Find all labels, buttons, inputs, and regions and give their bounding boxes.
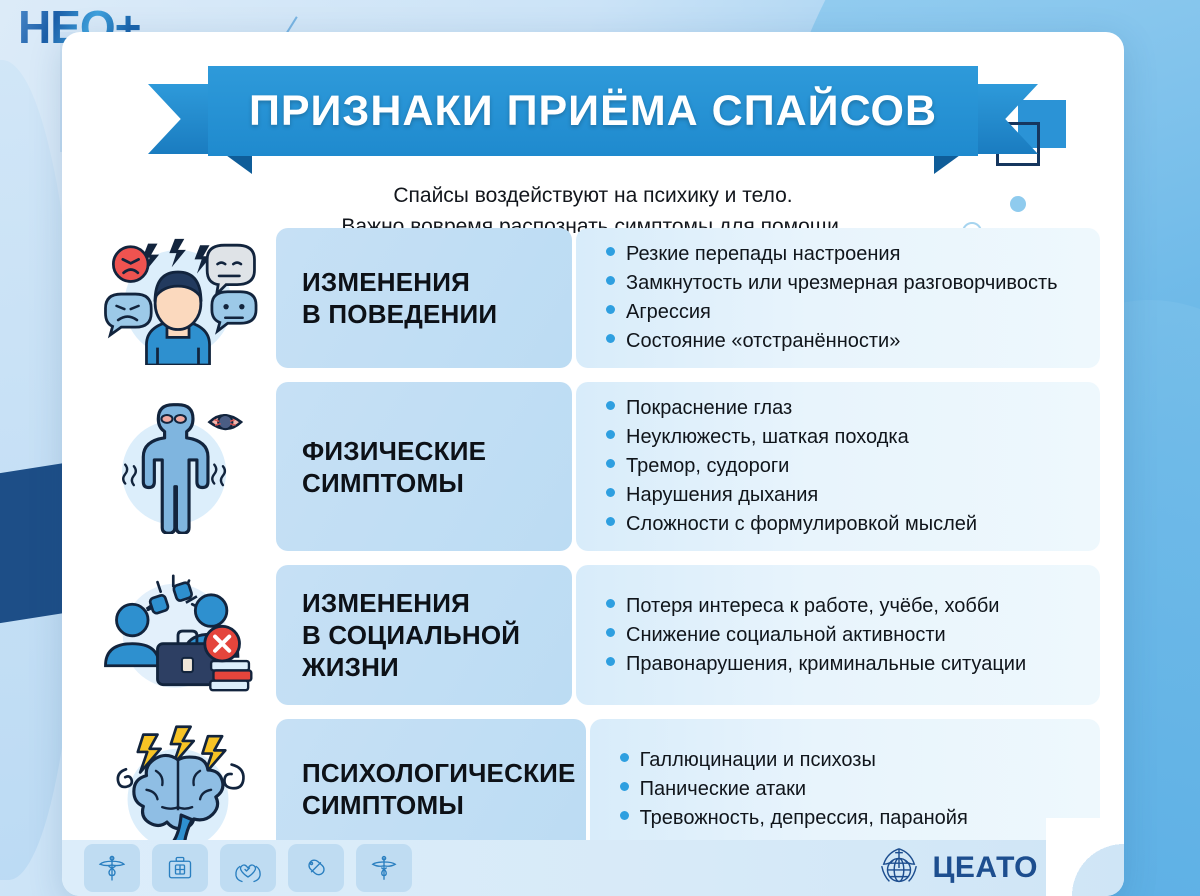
brain-lightning-icon xyxy=(80,719,276,859)
bullet-dot-icon xyxy=(620,753,629,762)
list-item: Неуклюжесть, шаткая походка xyxy=(606,423,1086,452)
bullet-dot-icon xyxy=(606,276,615,285)
list-item-text: Потеря интереса к работе, учёбе, хобби xyxy=(626,592,999,621)
list-item: Тревожность, депрессия, паранойя xyxy=(620,804,1086,833)
list-item-text: Замкнутость или чрезмерная разговорчивос… xyxy=(626,269,1058,298)
list-item: Нарушения дыхания xyxy=(606,481,1086,510)
section-label: ИЗМЕНЕНИЯ В ПОВЕДЕНИИ xyxy=(276,228,572,368)
list-item-text: Резкие перепады настроения xyxy=(626,240,900,269)
bullet-dot-icon xyxy=(606,305,615,314)
section-row: ИЗМЕНЕНИЯ В СОЦИАЛЬНОЙ ЖИЗНИ Потеря инте… xyxy=(80,565,1100,705)
list-item: Сложности с формулировкой мыслей xyxy=(606,510,1086,539)
page-title: ПРИЗНАКИ ПРИЁМА СПАЙСОВ xyxy=(249,87,937,136)
who-emblem-icon xyxy=(876,845,922,891)
section-label-line-1: ПСИХОЛОГИЧЕСКИЕ xyxy=(302,757,576,789)
infographic-poster: НЕО+ ПРИЗНАКИ ПРИЁМА СПАЙСОВ Спайсы возд… xyxy=(0,0,1200,896)
card-corner-notch xyxy=(1046,818,1124,896)
bullet-dot-icon xyxy=(620,782,629,791)
list-item-text: Нарушения дыхания xyxy=(626,481,818,510)
bullet-dot-icon xyxy=(606,247,615,256)
section-label-line-1: ИЗМЕНЕНИЯ xyxy=(302,587,520,619)
list-item-text: Тремор, судороги xyxy=(626,452,789,481)
section-label: ФИЗИЧЕСКИЕ СИМПТОМЫ xyxy=(276,382,572,551)
subtitle-line-1: Спайсы воздействуют на психику и тело. xyxy=(62,180,1124,211)
section-label-line-1: ФИЗИЧЕСКИЕ xyxy=(302,435,486,467)
list-item: Панические атаки xyxy=(620,775,1086,804)
first-aid-kit-icon xyxy=(152,844,208,892)
section-row: ПСИХОЛОГИЧЕСКИЕ СИМПТОМЫ Галлюцинации и … xyxy=(80,719,1100,859)
list-item-text: Покраснение глаз xyxy=(626,394,792,423)
list-item-text: Правонарушения, криминальные ситуации xyxy=(626,650,1026,679)
caduceus-icon xyxy=(84,844,140,892)
list-item: Правонарушения, криминальные ситуации xyxy=(606,650,1086,679)
bullet-dot-icon xyxy=(606,401,615,410)
list-item: Тремор, судороги xyxy=(606,452,1086,481)
section-label-line-2: В ПОВЕДЕНИИ xyxy=(302,298,497,330)
bullet-dot-icon xyxy=(606,517,615,526)
section-label: ИЗМЕНЕНИЯ В СОЦИАЛЬНОЙ ЖИЗНИ xyxy=(276,565,572,705)
list-item: Агрессия xyxy=(606,298,1086,327)
bullet-dot-icon xyxy=(606,628,615,637)
list-item: Замкнутость или чрезмерная разговорчивос… xyxy=(606,269,1086,298)
bullet-dot-icon xyxy=(606,430,615,439)
broken-social-link-icon xyxy=(80,565,276,705)
winged-caduceus-icon xyxy=(356,844,412,892)
footer-icon-strip xyxy=(84,844,412,892)
poster-footer: ЦЕАТО xyxy=(62,840,1124,896)
sections-list: ИЗМЕНЕНИЯ В ПОВЕДЕНИИ Резкие перепады на… xyxy=(62,228,1124,873)
ribbon-band: ПРИЗНАКИ ПРИЁМА СПАЙСОВ xyxy=(208,66,978,156)
section-row: ФИЗИЧЕСКИЕ СИМПТОМЫ Покраснение глаз Неу… xyxy=(80,382,1100,551)
list-item-text: Тревожность, депрессия, паранойя xyxy=(640,804,968,833)
bullet-dot-icon xyxy=(606,459,615,468)
bullet-dot-icon xyxy=(606,599,615,608)
trembling-body-red-eye-icon xyxy=(80,397,276,537)
section-label-line-2: СИМПТОМЫ xyxy=(302,467,486,499)
bullet-dot-icon xyxy=(620,811,629,820)
section-label-line-3: ЖИЗНИ xyxy=(302,651,520,683)
bullet-dot-icon xyxy=(606,488,615,497)
section-bullet-list: Галлюцинации и психозы Панические атаки … xyxy=(590,719,1100,859)
list-item-text: Сложности с формулировкой мыслей xyxy=(626,510,977,539)
section-bullet-list: Потеря интереса к работе, учёбе, хобби С… xyxy=(576,565,1100,705)
bullet-dot-icon xyxy=(606,657,615,666)
capsule-pill-icon xyxy=(288,844,344,892)
list-item-text: Снижение социальной активности xyxy=(626,621,946,650)
section-label-line-2: В СОЦИАЛЬНОЙ xyxy=(302,619,520,651)
list-item-text: Агрессия xyxy=(626,298,711,327)
heart-in-hands-icon xyxy=(220,844,276,892)
angry-faces-person-icon xyxy=(80,228,276,368)
section-label-line-2: СИМПТОМЫ xyxy=(302,789,576,821)
list-item-text: Состояние «отстранённости» xyxy=(626,327,900,356)
section-bullet-list: Резкие перепады настроения Замкнутость и… xyxy=(576,228,1100,368)
list-item: Состояние «отстранённости» xyxy=(606,327,1086,356)
section-label-line-1: ИЗМЕНЕНИЯ xyxy=(302,266,497,298)
list-item-text: Неуклюжесть, шаткая походка xyxy=(626,423,909,452)
list-item-text: Галлюцинации и психозы xyxy=(640,746,876,775)
list-item: Галлюцинации и психозы xyxy=(620,746,1086,775)
list-item-text: Панические атаки xyxy=(640,775,807,804)
section-row: ИЗМЕНЕНИЯ В ПОВЕДЕНИИ Резкие перепады на… xyxy=(80,228,1100,368)
who-brand-text: ЦЕАТО xyxy=(932,851,1038,885)
poster-card: ПРИЗНАКИ ПРИЁМА СПАЙСОВ Спайсы воздейств… xyxy=(62,32,1124,896)
bullet-dot-icon xyxy=(606,334,615,343)
list-item: Потеря интереса к работе, учёбе, хобби xyxy=(606,592,1086,621)
list-item: Снижение социальной активности xyxy=(606,621,1086,650)
section-label: ПСИХОЛОГИЧЕСКИЕ СИМПТОМЫ xyxy=(276,719,586,859)
list-item: Покраснение глаз xyxy=(606,394,1086,423)
list-item: Резкие перепады настроения xyxy=(606,240,1086,269)
title-ribbon: ПРИЗНАКИ ПРИЁМА СПАЙСОВ xyxy=(62,66,1124,170)
section-bullet-list: Покраснение глаз Неуклюжесть, шаткая пох… xyxy=(576,382,1100,551)
